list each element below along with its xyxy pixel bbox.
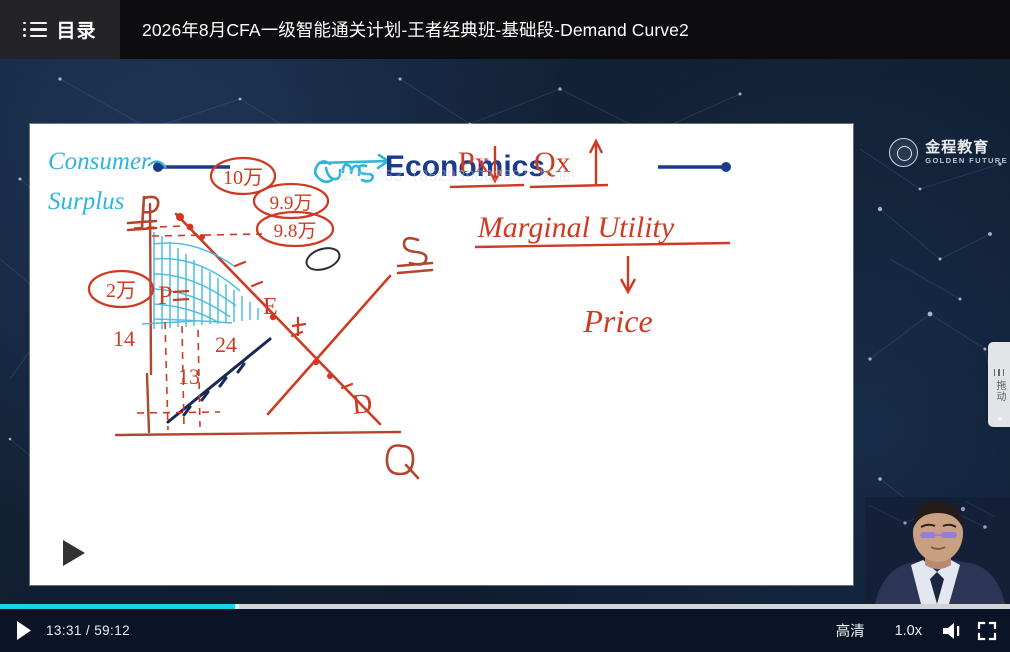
- equilibrium-point-label: E: [263, 294, 278, 320]
- bubble-2w-text: 2万: [106, 280, 136, 302]
- player-controls: 13:31 / 59:12 高清 1.0x: [0, 609, 1010, 652]
- playback-speed-button[interactable]: 1.0x: [881, 623, 936, 639]
- bubble-2w: 2万: [89, 271, 153, 307]
- demand-curve-label: D: [350, 388, 373, 421]
- price-word-text: Price: [582, 303, 652, 339]
- drag-handle[interactable]: 拖动: [988, 342, 1010, 427]
- catalog-menu-label: 目录: [56, 16, 96, 43]
- fullscreen-icon: [977, 621, 997, 641]
- supply-curve: [268, 276, 390, 414]
- slide-whiteboard: Economics: [30, 124, 853, 585]
- slide-content: Economics: [30, 124, 853, 585]
- danmaku-message: 85****63（85293908363）加油!: [339, 162, 575, 186]
- slide-play-button[interactable]: [52, 533, 92, 573]
- qty-13-label: 13: [178, 364, 200, 389]
- play-triangle-icon: [52, 533, 92, 573]
- video-player-app: 目录 2026年8月CFA一级智能通关计划-王者经典班-基础段-Demand C…: [0, 0, 1010, 652]
- volume-icon: [942, 621, 964, 641]
- equilibrium-tick: [292, 317, 306, 336]
- drag-handle-label: 拖动: [993, 380, 1005, 402]
- top-bar: 目录 2026年8月CFA一级智能通关计划-王者经典班-基础段-Demand C…: [0, 0, 1010, 59]
- watermark-cn-text: 金程教育: [925, 140, 1008, 156]
- brand-watermark: 金程教育 GOLDEN FUTURE: [889, 138, 1008, 167]
- bubble-98w-text: 9.8万: [274, 221, 317, 242]
- presenter-frame: [865, 497, 1010, 604]
- play-pause-button[interactable]: [0, 620, 46, 641]
- qx-up-arrow: [590, 141, 602, 184]
- qty-24-label: 24: [215, 332, 237, 357]
- seal-logo-icon: [889, 138, 918, 167]
- video-stage[interactable]: 85****63（85293908363）加油! 金程教育 GOLDEN FUT…: [0, 59, 1010, 604]
- qty-14-label: 14: [113, 326, 135, 351]
- volume-button[interactable]: [936, 614, 970, 648]
- axis-label-price: [128, 197, 158, 230]
- consumer-surplus-line1: Consumer: [48, 148, 151, 175]
- time-display: 13:31 / 59:12: [46, 623, 130, 638]
- quality-button[interactable]: 高清: [820, 620, 881, 641]
- svg-text:P: P: [158, 281, 172, 310]
- watermark-en-text: GOLDEN FUTURE: [925, 157, 1008, 165]
- play-icon: [15, 620, 32, 641]
- catalog-menu-button[interactable]: 目录: [0, 0, 120, 59]
- highlight-ellipse: [304, 244, 343, 274]
- mu-to-price-arrow: [621, 256, 635, 292]
- fullscreen-button[interactable]: [970, 614, 1004, 648]
- consumer-surplus-line2: Surplus: [48, 188, 124, 215]
- drag-grip-icon: [993, 368, 1006, 377]
- list-menu-icon: [23, 21, 47, 39]
- supply-curve-label: [398, 238, 432, 273]
- marginal-utility-note: Marginal Utility Price: [475, 211, 730, 339]
- course-title: 2026年8月CFA一级智能通关计划-王者经典班-基础段-Demand Curv…: [142, 17, 689, 42]
- presenter-video[interactable]: [865, 497, 1010, 604]
- marginal-utility-text: Marginal Utility: [477, 211, 675, 244]
- bubble-10w-text: 10万: [223, 167, 263, 189]
- axis-label-quantity: [387, 446, 418, 479]
- bubble-99w-text: 9.9万: [270, 193, 313, 214]
